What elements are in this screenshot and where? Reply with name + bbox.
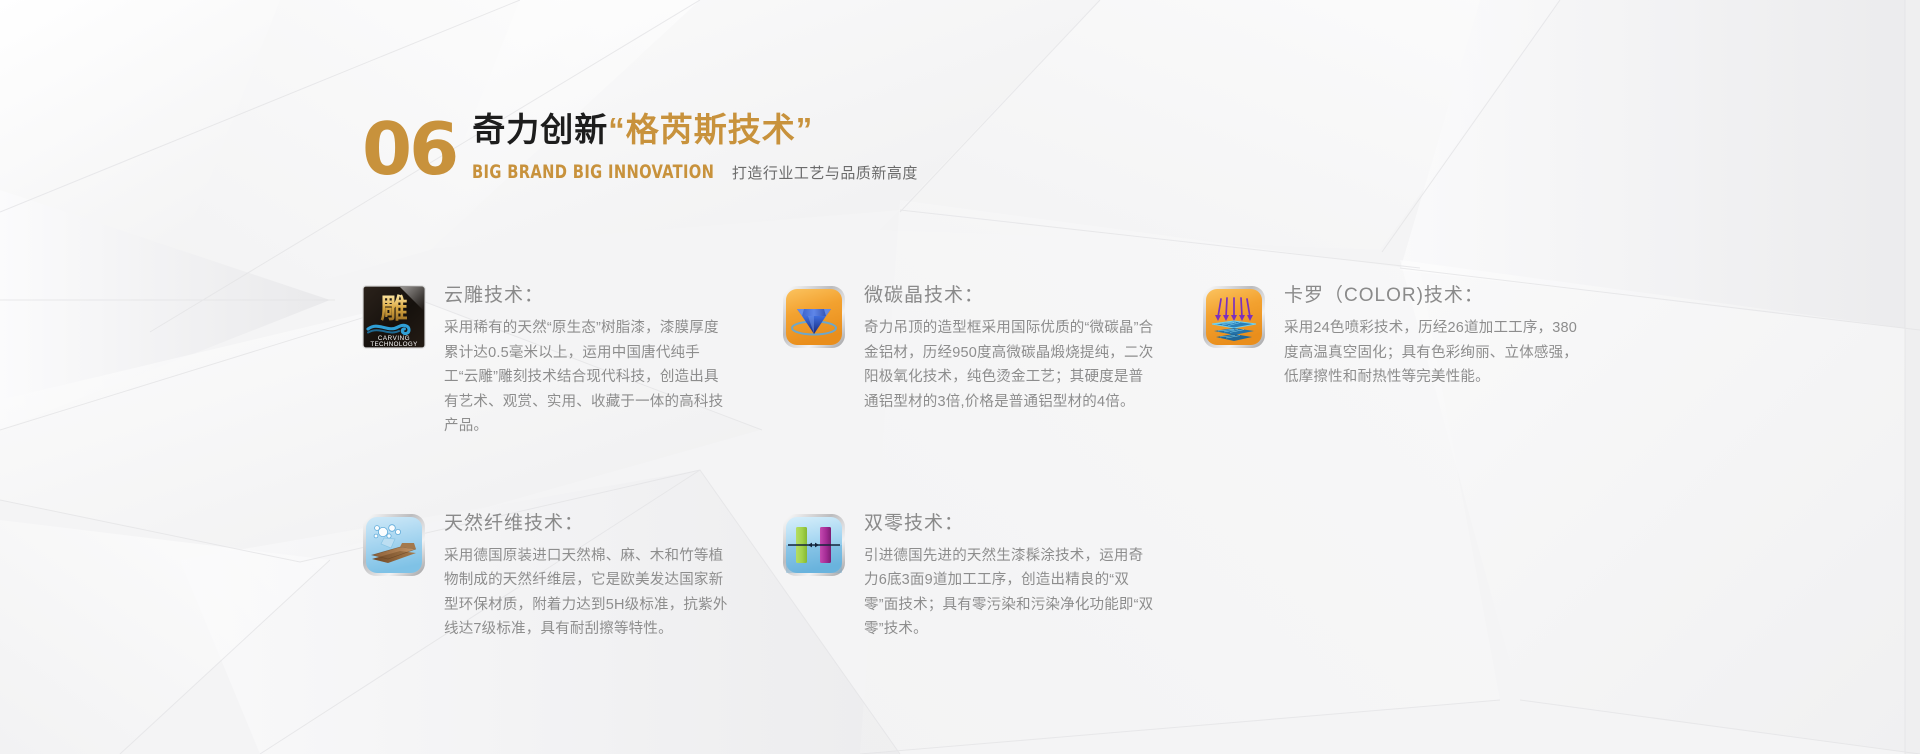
feature-title: 天然纤维技术： [444,513,782,535]
feature-text: 奇力吊顶的造型框采用国际优质的“微碳晶”合金铝材，历经950度高微碳晶煅烧提纯，… [864,316,1154,414]
subtitle: BIG BRAND BIG INNOVATION 打造行业工艺与品质新高度 [472,161,918,183]
feature-card-carving: 雕 CARVING TECHNOLOGY 云雕技术： 采用稀有的天然“原生态”树… [362,285,782,439]
feature-title: 卡罗（COLOR)技术： [1284,285,1584,307]
page-title: 奇力创新“格芮斯技术” [472,110,918,150]
spray-layers-icon [1202,285,1266,349]
fiber-layers-icon [362,513,426,577]
page-title-accent: “格芮斯技术” [608,111,813,148]
feature-card-micro-carbon-crystal: 微碳晶技术： 奇力吊顶的造型框采用国际优质的“微碳晶”合金铝材，历经950度高微… [782,285,1202,439]
feature-card-double-zero: 双零技术： 引进德国先进的天然生漆髹涂技术，运用奇力6底3面9道加工工序，创造出… [782,513,1202,642]
page-title-primary: 奇力创新 [472,111,608,148]
svg-text:雕: 雕 [381,294,408,325]
carving-technology-icon: 雕 CARVING TECHNOLOGY [362,285,426,349]
icon-caption-line2: TECHNOLOGY [370,341,417,348]
feature-title: 云雕技术： [444,285,782,307]
feature-card-natural-fiber: 天然纤维技术： 采用德国原装进口天然棉、麻、木和竹等植物制成的天然纤维层，它是欧… [362,513,782,642]
subtitle-en: BIG BRAND BIG INNOVATION [472,161,714,183]
feature-title: 双零技术： [864,513,1202,535]
feature-text: 引进德国先进的天然生漆髹涂技术，运用奇力6底3面9道加工工序，创造出精良的“双零… [864,544,1154,642]
feature-grid: 雕 CARVING TECHNOLOGY 云雕技术： 采用稀有的天然“原生态”树… [362,285,1662,642]
feature-card-color: 卡罗（COLOR)技术： 采用24色喷彩技术，历经26道加工工序，380度高温真… [1202,285,1582,439]
feature-text: 采用德国原装进口天然棉、麻、木和竹等植物制成的天然纤维层，它是欧美发达国家新型环… [444,544,729,642]
section-header: 06 奇力创新“格芮斯技术” BIG BRAND BIG INNOVATION … [362,110,918,183]
feature-text: 采用稀有的天然“原生态”树脂漆，漆膜厚度累计达0.5毫米以上，运用中国唐代纯手工… [444,316,729,439]
subtitle-cn: 打造行业工艺与品质新高度 [732,162,918,183]
feature-text: 采用24色喷彩技术，历经26道加工工序，380度高温真空固化；具有色彩绚丽、立体… [1284,316,1584,390]
diamond-icon [782,285,846,349]
section-number: 06 [362,118,456,180]
bar-compare-icon [782,513,846,577]
feature-title: 微碳晶技术： [864,285,1202,307]
